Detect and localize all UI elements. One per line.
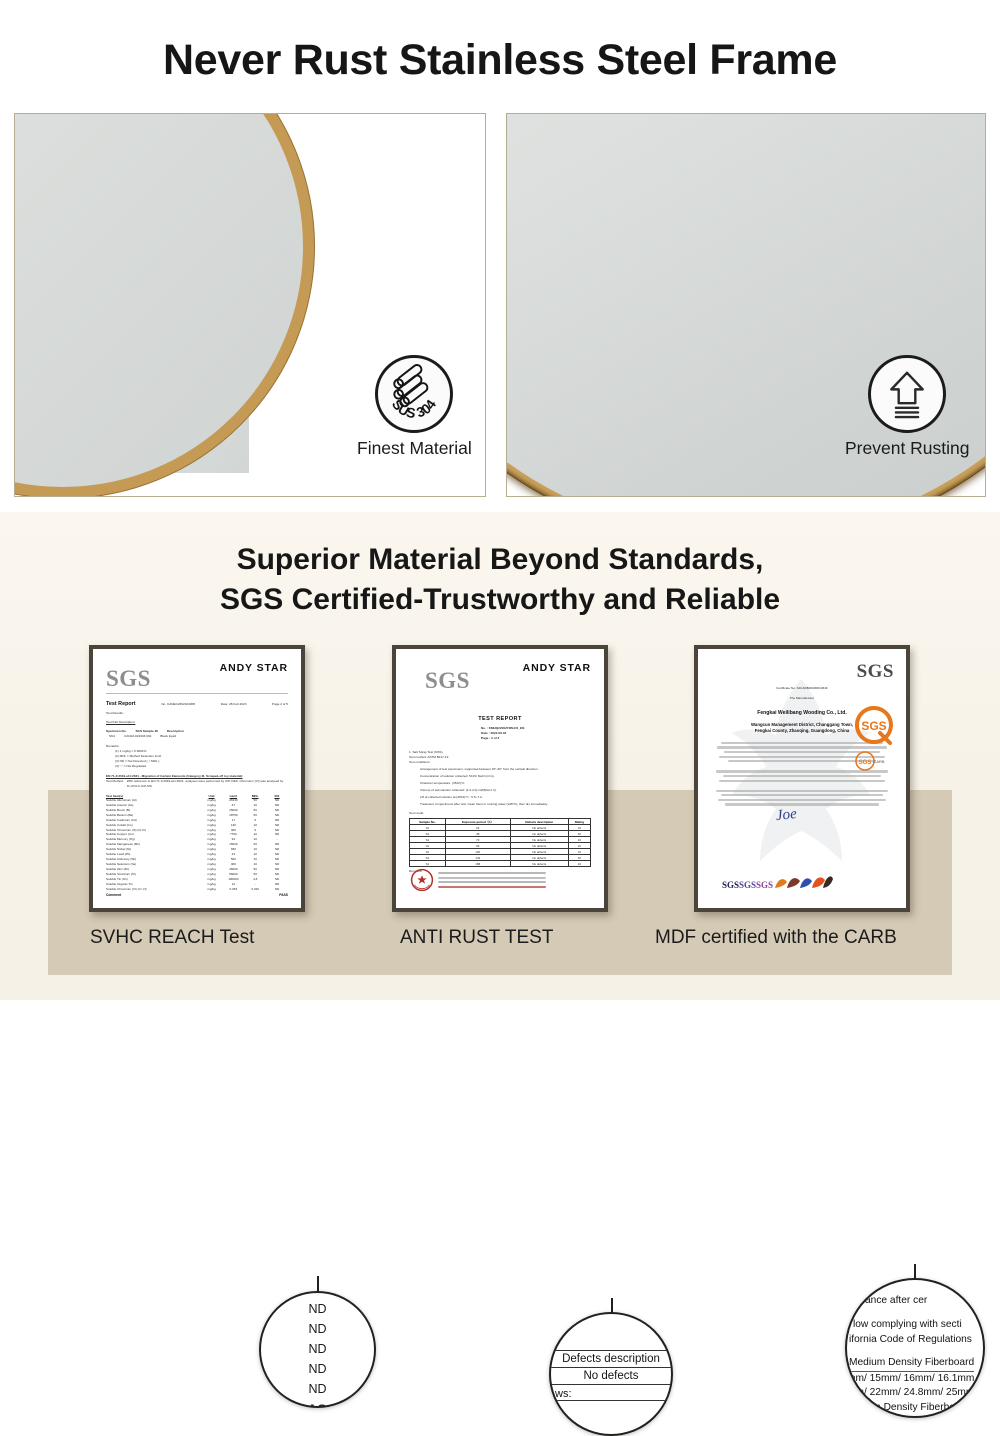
magnifier-results: ND ND ND ND ND PASS <box>259 1291 376 1408</box>
lens-value: ND <box>261 1379 374 1399</box>
method-label: Test Method: <box>106 779 124 789</box>
table-cell: 10 <box>568 861 590 867</box>
badge-circle-left: SUS 304 <box>375 355 453 433</box>
certificate-caption-antirust: ANTI RUST TEST <box>400 927 553 949</box>
remark-item: (4) "-" = Not Regulated <box>115 764 288 769</box>
lens-verdict: PASS <box>261 1401 374 1408</box>
section-heading: Superior Material Beyond Standards, SGS … <box>0 540 1000 620</box>
table-row: Soluble Chromium (VI) (Cr VI)mg/kg0.0530… <box>106 887 288 892</box>
doc-meta-page: Page 2 of 5 <box>272 702 288 707</box>
section-heading-line2: SGS Certified-Trustworthy and Reliable <box>0 580 1000 620</box>
up-arrow-icon <box>871 355 943 433</box>
lens-value: ND <box>261 1339 374 1359</box>
doc-meta-no: No. CANEC2302104905 <box>161 702 195 707</box>
bottom-section: Superior Material Beyond Standards, SGS … <box>0 512 1000 1000</box>
certificate-page-svhc: SGS ANDY STAR Test Report No. CANEC23021… <box>97 653 297 904</box>
salt-spray-body: S124No defects10S148No defects10S172No d… <box>410 825 591 867</box>
doc-meta-page: Page : 2 of 3 <box>481 736 591 741</box>
mirror-gold-frame-left <box>14 113 315 497</box>
sgs-logo-row-icon: SGS SGS SGS <box>722 872 833 890</box>
lens-value: ND <box>261 1299 374 1319</box>
method-text: With reference to EN 71-3:2019+A1:2021, … <box>127 779 288 789</box>
table-cell: Soluble Chromium (VI) (Cr VI) <box>106 887 201 892</box>
result-table-body: Soluble Aluminium (Al)mg/kg2813050NDSolu… <box>106 798 288 892</box>
sgs-logo: SGS <box>106 666 151 692</box>
section-test-results: Test Results: <box>106 711 288 716</box>
condition-item: Concentration of solution collected: 5±1… <box>420 774 591 779</box>
lens-line: mm/ 15mm/ 16mm/ 16.1mm <box>847 1372 983 1386</box>
comment-label: Comment <box>106 893 244 897</box>
stainless-tubes-icon: SUS 304 <box>378 355 450 433</box>
lens-partial-text: ws: <box>551 1385 671 1401</box>
doc-title: TEST REPORT <box>409 716 591 722</box>
svg-text:CARB: CARB <box>873 759 884 764</box>
comment-value: PASS <box>244 893 288 897</box>
condition-item: pH of collected solution at (25±2)°C : 6… <box>420 795 591 800</box>
certificate-card-svhc: SGS ANDY STAR Test Report No. CANEC23021… <box>89 645 305 912</box>
certificate-page-carb: SGS Certificate No. SJCARB2020061034F Th… <box>702 653 902 904</box>
td-sample-id: CAN23-021046.002 <box>124 734 151 739</box>
certificate-caption-carb: MDF certified with the CARB <box>655 927 897 949</box>
lens-line: Medium Density Fiberboard <box>847 1356 974 1371</box>
signature: Joe <box>775 806 797 825</box>
badge-circle-right <box>868 355 946 433</box>
condition-item: Volume of salt solution collected: (1.0-… <box>420 788 591 793</box>
table-cell: No defects <box>510 861 568 867</box>
magnifier-defects: Defects description No defects ws: <box>549 1312 673 1436</box>
manufacturer-label: The Manufacturer <box>710 696 894 701</box>
badge-finest-material: SUS 304 Finest Material <box>357 355 472 459</box>
condition-item: Chamber temperature: (35±2)°C. <box>420 781 591 786</box>
table-row: S1168No defects10 <box>410 861 591 867</box>
table-cell: mg/kg <box>201 887 223 892</box>
carb-badge-icon: SGS CARB <box>854 749 892 778</box>
table-cell: S1 <box>410 861 446 867</box>
lens-header: Defects description <box>551 1350 671 1368</box>
sgs-logo: SGS <box>425 668 470 694</box>
top-section: Never Rust Stainless Steel Frame <box>0 0 1000 512</box>
badge-caption-left: Finest Material <box>357 438 472 459</box>
badge-prevent-rusting: Prevent Rusting <box>845 355 970 459</box>
condition-item: Treatment of specimens after test: clean… <box>420 802 591 807</box>
lens-line: ance after cer <box>847 1294 983 1308</box>
svg-text:SGS: SGS <box>861 719 886 733</box>
salt-spray-table: Sample No. Exposure period（h） Defects de… <box>409 818 591 867</box>
condition-item: Arrangement of test specimens: supported… <box>420 767 591 772</box>
td-description: Black liquid <box>160 734 176 739</box>
certificate-caption-svhc: SVHC REACH Test <box>90 927 254 949</box>
conditions-label: Test conditions: <box>409 760 591 765</box>
sgs-footer-text: SGS <box>722 880 739 890</box>
certificate-card-carb: SGS Certificate No. SJCARB2020061034F Th… <box>694 645 910 912</box>
andy-star-logo: ANDY STAR <box>220 662 288 674</box>
td-specimen-no: SN1 <box>109 734 115 739</box>
certificate-number: Certificate No. SJCARB2020061034F <box>710 686 894 691</box>
andy-star-logo: ANDY STAR <box>523 662 591 674</box>
result-label: Test result: <box>409 811 591 816</box>
certificate-card-antirust: SGS ANDY STAR TEST REPORT No. : KMHQ2200… <box>392 645 608 912</box>
section-test-part: Test Part Description: <box>106 720 288 725</box>
doc-meta-date: Date: 28 Feb 2023 <box>221 702 247 707</box>
table-cell: 0.053 <box>222 887 244 892</box>
certificate-page-antirust: SGS ANDY STAR TEST REPORT No. : KMHQ2200… <box>400 653 600 904</box>
sgs-logo: SGS <box>857 661 894 683</box>
section-heading-line1: Superior Material Beyond Standards, <box>0 540 1000 580</box>
product-infographic: Never Rust Stainless Steel Frame <box>0 0 1000 1000</box>
lens-line: ifornia Code of Regulations <box>847 1333 983 1347</box>
sgs-orange-badge-icon: SGS <box>854 705 894 750</box>
lens-value: No defects <box>551 1368 671 1385</box>
page-title: Never Rust Stainless Steel Frame <box>0 36 1000 85</box>
svg-text:SGS: SGS <box>859 760 872 766</box>
table-cell: ND <box>266 887 288 892</box>
magnifier-carb: ance after cer low complying with secti … <box>845 1278 985 1418</box>
lens-value: ND <box>261 1359 374 1379</box>
table-cell: 0.020 <box>244 887 266 892</box>
red-company-stamp-icon <box>410 868 434 892</box>
lens-line: low complying with secti <box>847 1318 983 1332</box>
lens-line: edium Density Fiberboa <box>847 1401 983 1415</box>
table-cell: 168 <box>445 861 510 867</box>
doc-title: Test Report <box>106 701 136 707</box>
badge-caption-right: Prevent Rusting <box>845 438 970 459</box>
lens-line: mm/ 22mm/ 24.8mm/ 25mm <box>847 1386 983 1400</box>
lens-value: ND <box>261 1319 374 1339</box>
lens-line: / 7.4mm/ 7.8mm/ <box>847 1415 983 1418</box>
